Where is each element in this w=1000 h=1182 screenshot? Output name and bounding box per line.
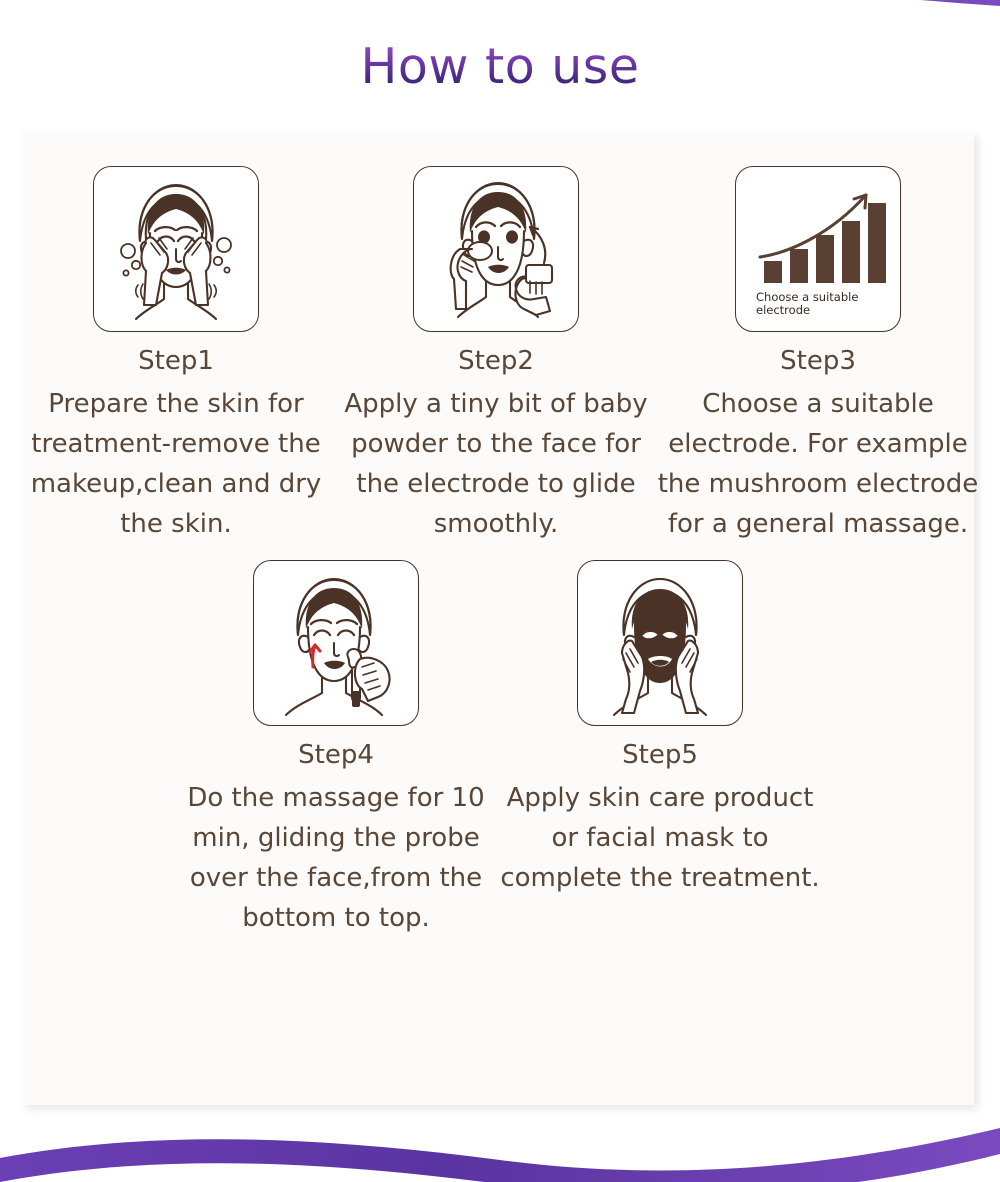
step-label: Step3 xyxy=(780,348,856,374)
page-title: How to use xyxy=(0,40,1000,94)
step-item-4: Step4 Do the massage for 10 min, gliding… xyxy=(174,560,498,938)
chart-caption-line-1: Choose a suitable xyxy=(756,290,858,304)
rising-bar-chart-icon: Choose a suitable electrode xyxy=(735,166,901,332)
chart-caption-line-2: electrode xyxy=(756,303,810,317)
how-to-use-card: Step1 Prepare the skin for treatment-rem… xyxy=(22,132,974,1105)
probe-massage-icon xyxy=(253,560,419,726)
step-description: Choose a suitable electrode. For example… xyxy=(651,384,985,544)
step-item-3: Choose a suitable electrode Step3 Choose… xyxy=(656,166,980,544)
step-description: Do the massage for 10 min, gliding the p… xyxy=(169,778,503,938)
step-label: Step1 xyxy=(138,348,214,374)
steps-row-top: Step1 Prepare the skin for treatment-rem… xyxy=(22,132,974,544)
step-label: Step4 xyxy=(298,742,374,768)
chart-bars xyxy=(764,203,886,283)
step-item-5: Step5 Apply skin care product or facial … xyxy=(498,560,822,938)
step-item-1: Step1 Prepare the skin for treatment-rem… xyxy=(16,166,336,544)
step-description: Apply skin care product or facial mask t… xyxy=(493,778,827,898)
powder-puff-application-icon xyxy=(413,166,579,332)
face-washing-bubbles-icon xyxy=(93,166,259,332)
facial-mask-icon xyxy=(577,560,743,726)
step-description: Apply a tiny bit of baby powder to the f… xyxy=(336,384,656,544)
step-description: Prepare the skin for treatment-remove th… xyxy=(16,384,336,544)
step-item-2: Step2 Apply a tiny bit of baby powder to… xyxy=(336,166,656,544)
step-label: Step5 xyxy=(622,742,698,768)
top-wave-decoration xyxy=(0,0,1000,34)
step-label: Step2 xyxy=(458,348,534,374)
bottom-wave-decoration xyxy=(0,1102,1000,1182)
steps-row-bottom: Step4 Do the massage for 10 min, gliding… xyxy=(22,544,974,938)
